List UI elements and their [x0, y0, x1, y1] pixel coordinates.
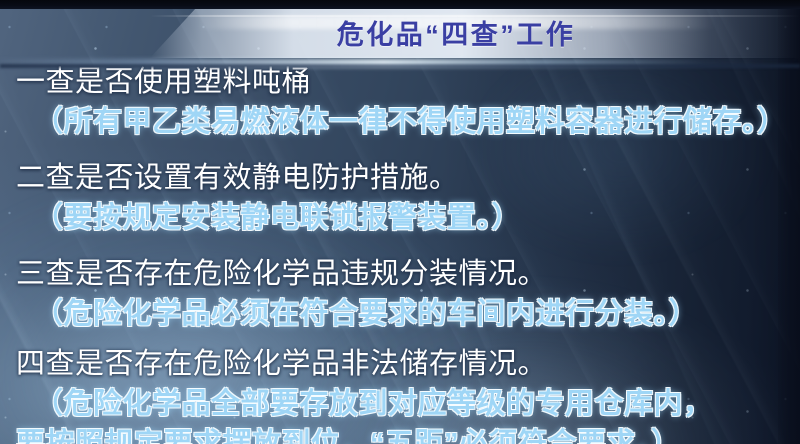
checklist-item-2-heading: 二查是否设置有效静电防护措施。: [0, 158, 800, 198]
page-title: 危化品“四查”工作: [196, 19, 716, 51]
spacer-2: [0, 238, 800, 254]
checklist-item-4-heading: 四查是否存在危险化学品非法储存情况。: [0, 344, 800, 384]
checklist-item-3: 三查是否存在危险化学品违规分装情况。 （危险化学品必须在符合要求的车间内进行分装…: [0, 254, 800, 334]
banner-underline-shadow: [0, 64, 800, 68]
checklist-item-4-note-2: 要按照规定要求摆放到位，“五距”必须符合要求。）: [0, 424, 800, 444]
checklist-item-3-note-1: （危险化学品必须在符合要求的车间内进行分装。）: [0, 294, 800, 334]
spacer-1: [0, 142, 800, 158]
checklist-item-4: 四查是否存在危险化学品非法储存情况。 （危险化学品全部要存放到对应等级的专用仓库…: [0, 344, 800, 444]
top-dark-band: [0, 0, 800, 9]
title-banner: 危化品“四查”工作: [0, 8, 800, 58]
checklist-content: 一查是否使用塑料吨桶 （所有甲乙类易燃液体一律不得使用塑料容器进行储存。） 二查…: [0, 62, 800, 444]
checklist-item-1: 一查是否使用塑料吨桶 （所有甲乙类易燃液体一律不得使用塑料容器进行储存。）: [0, 62, 800, 142]
checklist-item-3-heading: 三查是否存在危险化学品违规分装情况。: [0, 254, 800, 294]
checklist-item-2: 二查是否设置有效静电防护措施。 （要按规定安装静电联锁报警装置。）: [0, 158, 800, 238]
checklist-item-1-note-1: （所有甲乙类易燃液体一律不得使用塑料容器进行储存。）: [0, 102, 800, 142]
spacer-3: [0, 334, 800, 344]
checklist-item-1-heading: 一查是否使用塑料吨桶: [0, 62, 800, 102]
checklist-item-2-note-1: （要按规定安装静电联锁报警装置。）: [0, 198, 800, 238]
checklist-item-4-note-1: （危险化学品全部要存放到对应等级的专用仓库内，: [0, 384, 800, 424]
presentation-slide: 危化品“四查”工作 一查是否使用塑料吨桶 （所有甲乙类易燃液体一律不得使用塑料容…: [0, 0, 800, 444]
